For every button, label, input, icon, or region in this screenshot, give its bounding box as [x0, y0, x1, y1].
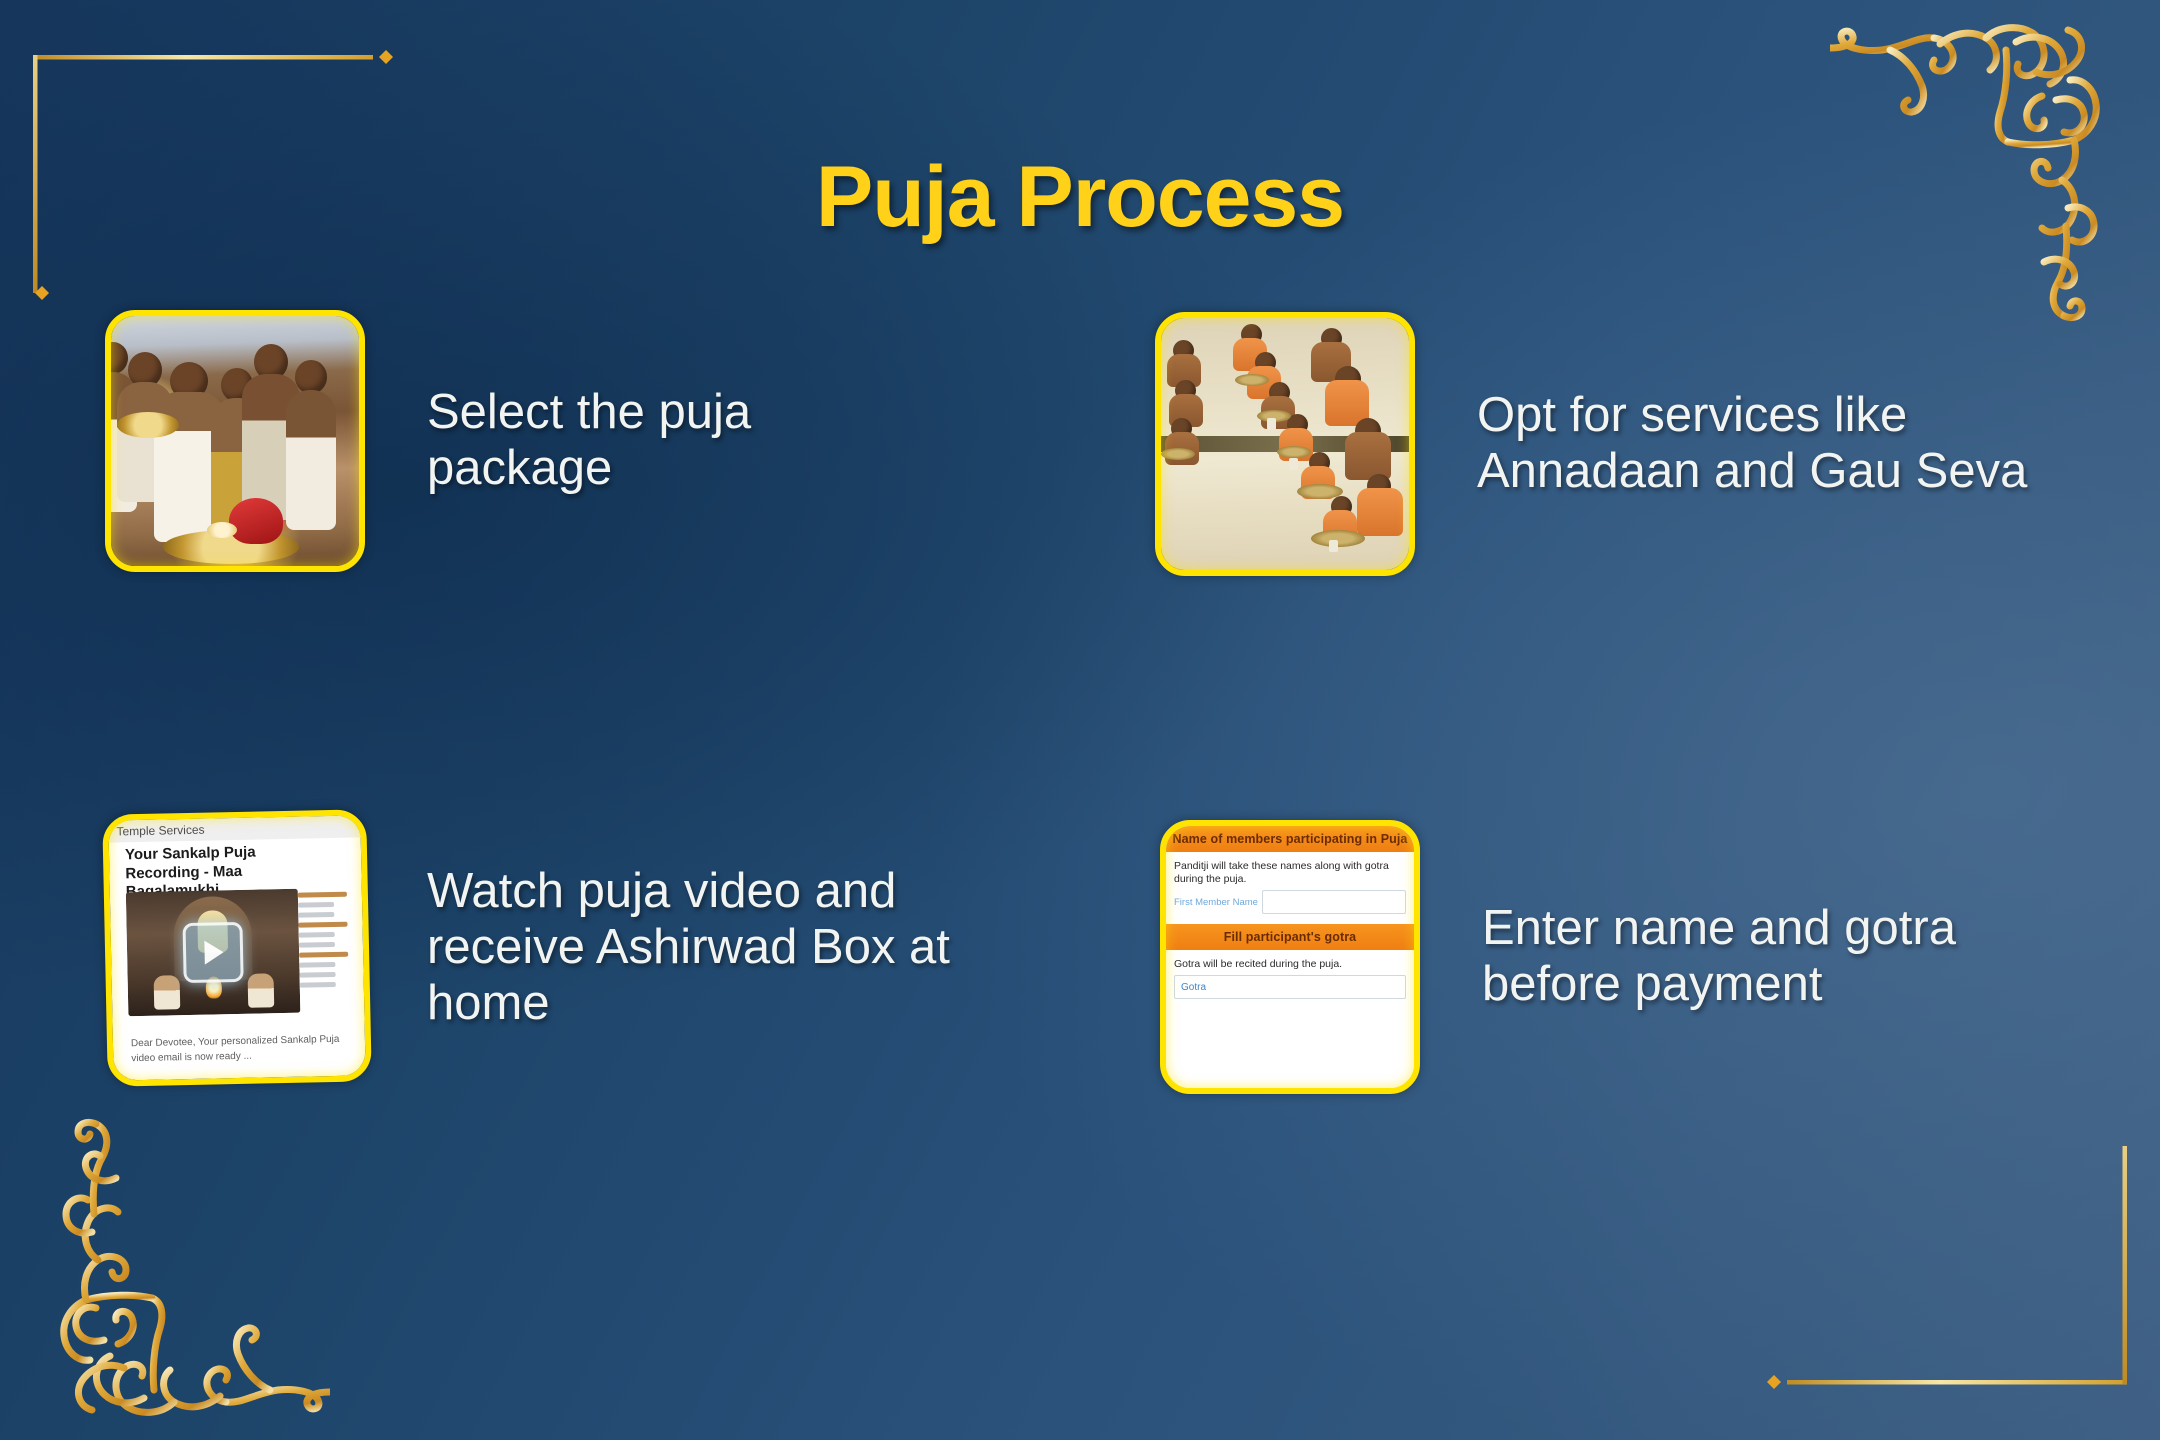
email-video-thumbnail[interactable]: [126, 889, 301, 1017]
slide-title: Puja Process: [0, 148, 2160, 247]
puja-recording-email-screenshot: Temple Services Your Sankalp Puja Record…: [102, 809, 372, 1086]
form-bottom-spacer: [1166, 1009, 1414, 1088]
process-step-watch-video: Temple Services Your Sankalp Puja Record…: [105, 812, 1067, 1084]
form-section1-note: Panditji will take these names along wit…: [1166, 852, 1414, 890]
step-4-text: Enter name and gotra before payment: [1482, 901, 2082, 1013]
bottom-left-filigree-ornament: [0, 1110, 330, 1440]
email-body-preview: Dear Devotee, Your personalized Sankalp …: [131, 1032, 356, 1067]
step-1-text: Select the puja package: [427, 385, 897, 497]
form-gotra-row: Gotra: [1166, 975, 1414, 1009]
step-2-text: Opt for services like Annadaan and Gau S…: [1477, 388, 2037, 500]
form-section2-header: Fill participant's gotra: [1166, 924, 1414, 950]
email-footer-line: [132, 1074, 356, 1079]
bottom-right-corner-decoration: [1730, 1128, 2130, 1418]
email-sender-bar: Temple Services: [108, 815, 360, 842]
annadaan-photo: [1155, 312, 1415, 576]
email-sidebar-lines: [298, 891, 358, 992]
slide-canvas: Puja Process: [0, 0, 2160, 1440]
form-member-name-label: First Member Name: [1174, 897, 1258, 908]
puja-priests-photo: [105, 310, 365, 572]
form-section1-header: Name of members participating in Puja: [1166, 826, 1414, 852]
form-member-name-input[interactable]: [1262, 890, 1406, 914]
step-3-text: Watch puja video and receive Ashirwad Bo…: [427, 864, 1067, 1032]
form-section2-note: Gotra will be recited during the puja.: [1166, 950, 1414, 975]
play-button-icon[interactable]: [182, 922, 243, 983]
form-member-name-row: First Member Name: [1166, 890, 1414, 924]
form-gotra-input[interactable]: Gotra: [1174, 975, 1406, 999]
process-step-enter-gotra: Name of members participating in Puja Pa…: [1160, 820, 2082, 1094]
email-sender-label: Temple Services: [116, 823, 204, 839]
process-step-select-package: Select the puja package: [105, 310, 897, 572]
gotra-form-screenshot: Name of members participating in Puja Pa…: [1160, 820, 1420, 1094]
process-step-opt-services: Opt for services like Annadaan and Gau S…: [1155, 312, 2037, 576]
